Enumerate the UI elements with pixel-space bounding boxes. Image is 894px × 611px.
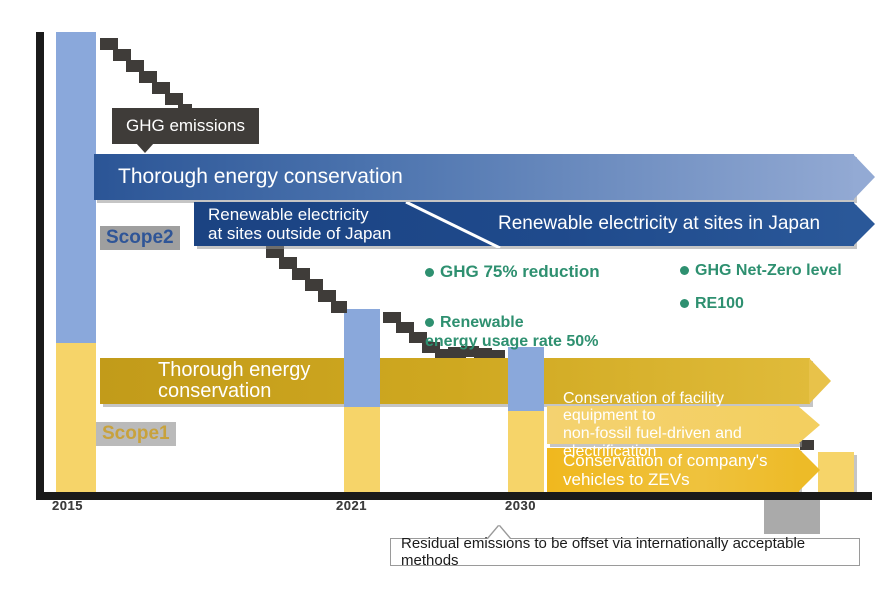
chip-tail	[136, 143, 154, 153]
bullet-icon	[425, 268, 434, 277]
target-mid-renewable: Renewable energy usage rate 50%	[425, 295, 598, 352]
target-mid-renewable-text: Renewable energy usage rate 50%	[425, 314, 598, 350]
x-tick-2021-overlay: 2021	[336, 498, 367, 513]
ghg-emissions-text: GHG emissions	[126, 116, 245, 135]
ghg-emissions-label: GHG emissions	[112, 108, 259, 144]
residual-gray-segment	[764, 498, 820, 534]
banner-conservation-vehicles-text: Conservation of company's vehicles to ZE…	[563, 451, 768, 489]
bar-2015	[56, 32, 96, 493]
arrow-head-icon	[853, 202, 875, 246]
arrow-head-icon	[798, 406, 820, 444]
banner-renewable-in-japan-text: Renewable electricity at sites in Japan	[498, 213, 820, 235]
chart-canvas: 2015 2021 2030 2050	[0, 0, 894, 611]
y-axis	[36, 32, 44, 498]
target-long-netzero-text: GHG Net-Zero level	[695, 262, 842, 279]
bar-2050	[818, 452, 854, 493]
banner-thorough-energy-conservation-top: Thorough energy conservation	[94, 154, 854, 200]
bullet-icon	[680, 299, 689, 308]
scope2-tag: Scope2	[100, 226, 180, 250]
x-tick-2015-overlay: 2015	[52, 498, 83, 513]
arrow-head-icon	[853, 154, 875, 200]
banner-thorough-energy-conservation-bottom-text: Thorough energy conservation	[158, 360, 310, 402]
bullet-icon	[425, 318, 434, 327]
banner-conservation-facility: Conservation of facility equipment to no…	[547, 406, 799, 444]
scope1-tag: Scope1	[96, 422, 176, 446]
arrow-head-icon	[809, 358, 831, 404]
banner-conservation-facility-text: Conservation of facility equipment to no…	[563, 390, 799, 460]
bar-2015-scope1-segment	[56, 343, 96, 493]
arrow-head-icon	[798, 448, 820, 492]
bar-2030-scope1-segment	[508, 411, 544, 493]
target-long-re100-text: RE100	[695, 295, 744, 312]
residual-caption-text: Residual emissions to be offset via inte…	[401, 535, 849, 569]
x-axis-overlay	[36, 492, 872, 500]
banner-conservation-vehicles: Conservation of company's vehicles to ZE…	[547, 448, 799, 492]
residual-caption: Residual emissions to be offset via inte…	[390, 538, 860, 566]
target-long-netzero: GHG Net-Zero level	[680, 262, 842, 281]
bar-2030-overlay	[508, 358, 544, 411]
bar-2021-overlay	[344, 358, 380, 407]
x-tick-2030-overlay: 2030	[505, 498, 536, 513]
banner-renewable-outside-japan-text: Renewable electricity at sites outside o…	[208, 205, 391, 243]
bar-2015-scope2-segment	[56, 32, 96, 343]
target-mid-ghg: GHG 75% reduction	[425, 262, 600, 282]
bar-2021-scope1-segment	[344, 407, 380, 493]
bar-residual-offset	[764, 498, 820, 534]
bullet-icon	[680, 266, 689, 275]
target-mid-ghg-text: GHG 75% reduction	[440, 262, 600, 281]
banner-thorough-energy-conservation-top-text: Thorough energy conservation	[118, 165, 403, 189]
target-long-re100: RE100	[680, 295, 744, 314]
caption-pointer	[488, 526, 510, 539]
bar-2050-scope1-segment	[818, 452, 854, 493]
